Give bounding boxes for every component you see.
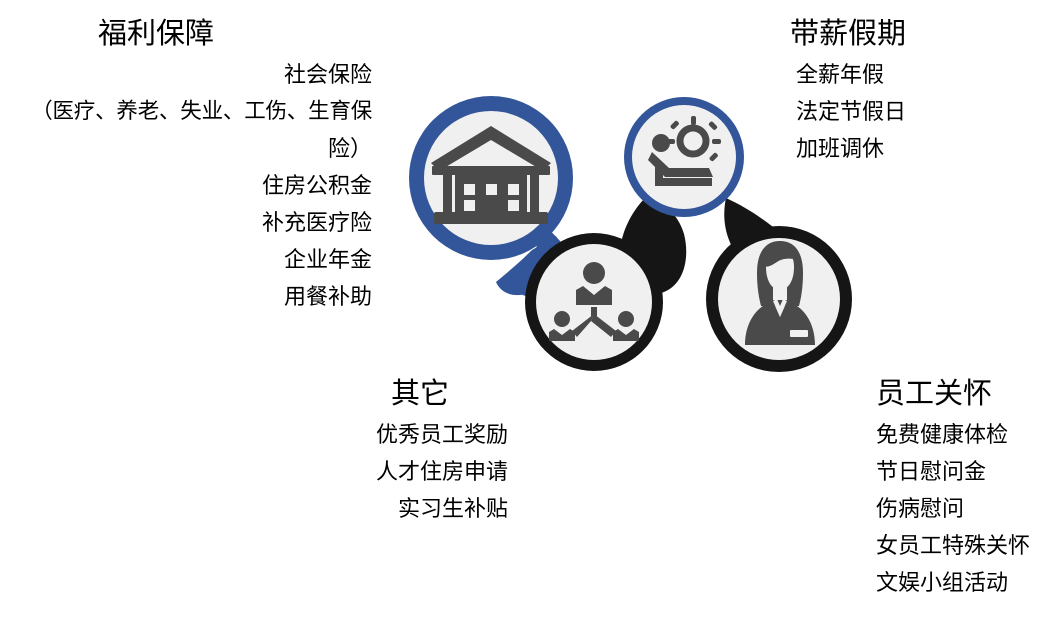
care-node [706, 226, 852, 372]
list-item: （医疗、养老、失业、工伤、生育保 [0, 93, 380, 130]
section-welfare-items: 社会保险 （医疗、养老、失业、工伤、生育保 险） 住房公积金 补充医疗险 企业年… [0, 56, 380, 315]
list-item: 文娱小组活动 [860, 564, 1050, 601]
list-item: 法定节假日 [786, 93, 1050, 130]
other-node [525, 233, 663, 371]
section-care-items: 免费健康体检 节日慰问金 伤病慰问 女员工特殊关怀 文娱小组活动 [860, 416, 1050, 601]
welfare-node-ring [409, 96, 573, 260]
section-leave-items: 全薪年假 法定节假日 加班调休 [786, 56, 1050, 167]
list-item: 用餐补助 [0, 278, 380, 315]
care-node-ring [706, 226, 852, 372]
connector-welfare-other-2 [510, 226, 573, 297]
connector-group [496, 197, 802, 297]
section-welfare-title: 福利保障 [0, 12, 380, 56]
list-item: 伤病慰问 [860, 490, 1050, 527]
list-item: 优秀员工奖励 [330, 416, 620, 453]
section-welfare: 福利保障 社会保险 （医疗、养老、失业、工伤、生育保 险） 住房公积金 补充医疗… [0, 12, 380, 315]
building-icon [431, 126, 551, 224]
section-other: 其它 优秀员工奖励 人才住房申请 实习生补贴 [330, 372, 620, 527]
list-item: 社会保险 [0, 56, 380, 93]
list-item: 补充医疗险 [0, 204, 380, 241]
list-item: 免费健康体检 [860, 416, 1050, 453]
list-item: 女员工特殊关怀 [860, 527, 1050, 564]
section-leave-title: 带薪假期 [786, 12, 1050, 56]
other-node-ring [525, 233, 663, 371]
list-item: 实习生补贴 [330, 490, 620, 527]
section-other-items: 优秀员工奖励 人才住房申请 实习生补贴 [330, 416, 620, 527]
org-chart-icon [549, 262, 639, 341]
list-item: 险） [0, 130, 380, 167]
leave-node-fill [632, 105, 736, 209]
leave-node-ring [624, 97, 744, 217]
connector-welfare-other [496, 236, 561, 295]
infographic-page: 福利保障 社会保险 （医疗、养老、失业、工伤、生育保 险） 住房公积金 补充医疗… [0, 0, 1050, 636]
list-item: 节日慰问金 [860, 453, 1050, 490]
beach-sun-icon [648, 116, 721, 186]
list-item: 全薪年假 [786, 56, 1050, 93]
section-care-title: 员工关怀 [860, 372, 1050, 416]
list-item: 人才住房申请 [330, 453, 620, 490]
leave-node [624, 97, 744, 217]
connector-leave-care [724, 198, 801, 279]
list-item: 企业年金 [0, 241, 380, 278]
section-other-title: 其它 [330, 372, 620, 416]
connector-leave-other [620, 197, 686, 294]
welfare-node [409, 96, 573, 260]
other-node-fill [536, 244, 652, 360]
list-item: 加班调休 [786, 130, 1050, 167]
care-node-fill [718, 238, 840, 360]
employee-icon [745, 241, 815, 345]
section-leave: 带薪假期 全薪年假 法定节假日 加班调休 [786, 12, 1050, 167]
section-care: 员工关怀 免费健康体检 节日慰问金 伤病慰问 女员工特殊关怀 文娱小组活动 [860, 372, 1050, 601]
welfare-node-fill [424, 111, 558, 245]
list-item: 住房公积金 [0, 167, 380, 204]
